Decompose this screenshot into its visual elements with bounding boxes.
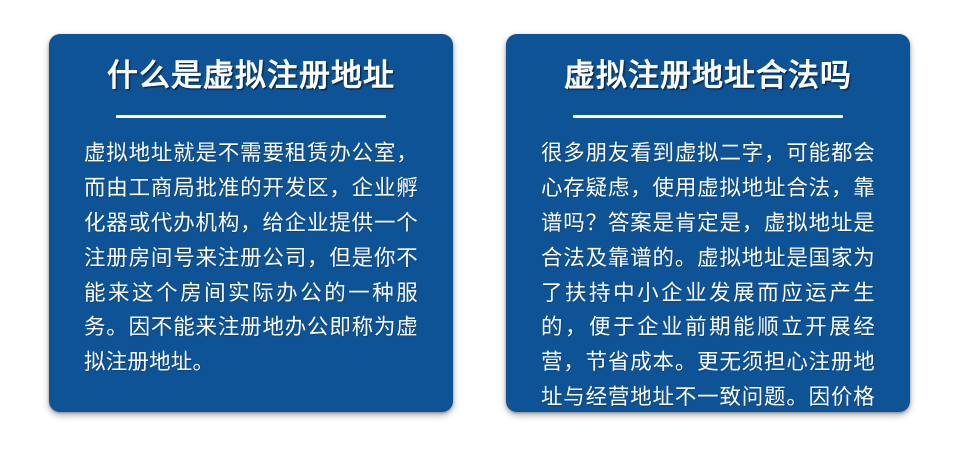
card-title: 什么是虚拟注册地址 [107,51,395,94]
info-card-is-virtual-address-legal: 虚拟注册地址合法吗 很多朋友看到虚拟二字，可能都会心存疑虑，使用虚拟地址合法，靠… [506,34,910,412]
card-body-text: 虚拟地址就是不需要租赁办公室，而由工商局批准的开发区，企业孵化器或代办机构，给企… [79,118,423,380]
card-title: 虚拟注册地址合法吗 [564,51,852,94]
card-body-text: 很多朋友看到虚拟二字，可能都会心存疑虑，使用虚拟地址合法，靠谱吗？答案是肯定是，… [536,118,880,412]
info-cards-board: 什么是虚拟注册地址 虚拟地址就是不需要租赁办公室，而由工商局批准的开发区，企业孵… [0,0,959,464]
info-card-what-is-virtual-address: 什么是虚拟注册地址 虚拟地址就是不需要租赁办公室，而由工商局批准的开发区，企业孵… [49,34,453,412]
cards-row: 什么是虚拟注册地址 虚拟地址就是不需要租赁办公室，而由工商局批准的开发区，企业孵… [0,0,959,464]
